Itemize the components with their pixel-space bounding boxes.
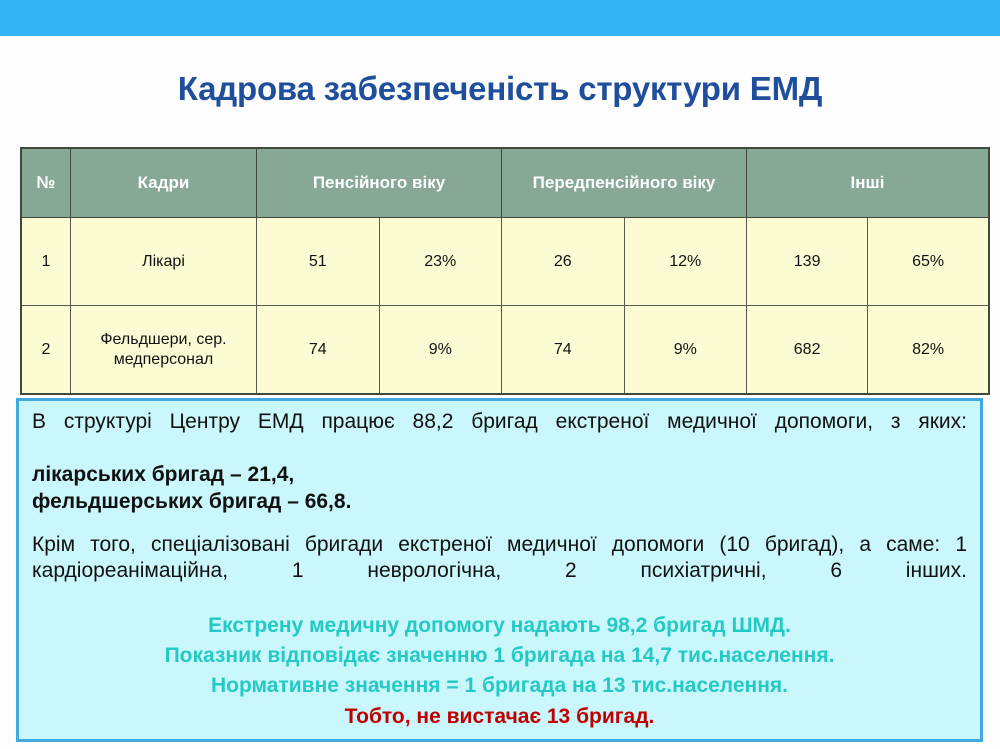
slide-canvas: Кадрова забезпеченість структури ЕМД № К… [0,0,1000,749]
cell-staff-name: Лікарі [71,218,257,306]
staffing-table: № Кадри Пенсійного віку Передпенсійного … [20,147,990,395]
cell-pension-count: 51 [257,218,380,306]
table-body: 1 Лікарі 51 23% 26 12% 139 65% 2 Фельдше… [21,218,989,395]
column-header-prepension-age: Передпенсійного віку [502,148,747,218]
cell-prepension-count: 26 [502,218,625,306]
table-row: 1 Лікарі 51 23% 26 12% 139 65% [21,218,989,306]
staffing-table-container: № Кадри Пенсійного віку Передпенсійного … [20,147,980,395]
column-header-other: Інші [747,148,990,218]
column-header-staff: Кадри [71,148,257,218]
cell-other-count: 682 [747,306,868,395]
cell-pension-count: 74 [257,306,380,395]
panel-highlight-line-3: Нормативне значення = 1 бригада на 13 ти… [32,671,967,701]
column-header-number: № [21,148,71,218]
cell-other-percent: 65% [868,218,989,306]
table-header: № Кадри Пенсійного віку Передпенсійного … [21,148,989,218]
cell-row-number: 2 [21,306,71,395]
top-accent-bar [0,0,1000,36]
table-header-row: № Кадри Пенсійного віку Передпенсійного … [21,148,989,218]
panel-bold-line-doctors: лікарських бригад – 21,4, [32,462,967,489]
table-row: 2 Фельдшери, сер. медперсонал 74 9% 74 9… [21,306,989,395]
summary-panel: В структурі Центру ЕМД працює 88,2 брига… [16,398,983,742]
cell-other-count: 139 [747,218,868,306]
panel-highlight-line-1: Екстрену медичну допомогу надають 98,2 б… [32,611,967,641]
panel-spacer [32,516,967,532]
panel-intro-paragraph: В структурі Центру ЕМД працює 88,2 брига… [32,409,967,462]
panel-highlight-line-2: Показник відповідає значенню 1 бригада н… [32,641,967,671]
cell-prepension-percent: 9% [624,306,747,395]
cell-prepension-percent: 12% [624,218,747,306]
cell-row-number: 1 [21,218,71,306]
panel-bold-line-paramedics: фельдшерських бригад – 66,8. [32,489,967,516]
panel-conclusion-line: Тобто, не вистачає 13 бригад. [32,700,967,732]
cell-other-percent: 82% [868,306,989,395]
cell-prepension-count: 74 [502,306,625,395]
column-header-pension-age: Пенсійного віку [257,148,502,218]
cell-pension-percent: 9% [379,306,502,395]
cell-staff-name: Фельдшери, сер. медперсонал [71,306,257,395]
page-title: Кадрова забезпеченість структури ЕМД [0,70,1000,108]
panel-specialized-paragraph: Крім того, спеціалізовані бригади екстре… [32,532,967,611]
cell-pension-percent: 23% [379,218,502,306]
